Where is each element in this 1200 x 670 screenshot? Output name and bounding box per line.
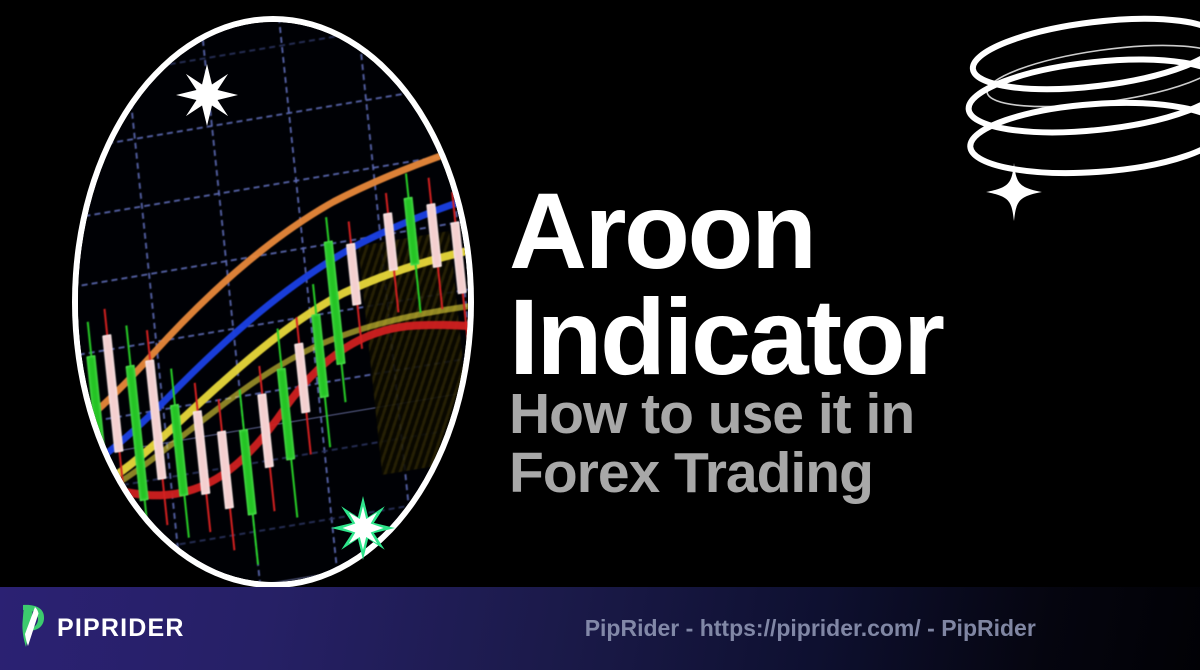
poster-canvas: Aroon Indicator How to use it in Forex T… <box>0 0 1200 670</box>
sparkle-8-point-white-icon <box>176 64 238 126</box>
subtitle-line-1: How to use it in <box>509 385 1169 444</box>
footer-bar: PIPRIDER PipRider - https://piprider.com… <box>0 587 1200 670</box>
subtitle-line-2: Forex Trading <box>509 444 1169 503</box>
candlestick-chart-photo <box>78 22 468 582</box>
brand-lockup[interactable]: PIPRIDER <box>18 603 185 654</box>
page-subtitle: How to use it in Forex Trading <box>509 385 1169 504</box>
brand-name: PIPRIDER <box>57 614 185 643</box>
price-level-line <box>78 526 468 582</box>
page-title: Aroon Indicator <box>509 178 1169 390</box>
title-line-2: Indicator <box>509 284 1169 390</box>
piprider-logo-icon <box>18 603 48 654</box>
sparkle-8-point-green-icon <box>331 496 395 560</box>
chart-artwork-ellipse <box>78 22 468 582</box>
footer-url-text[interactable]: PipRider - https://piprider.com/ - PipRi… <box>585 615 1036 642</box>
title-line-1: Aroon <box>509 178 1169 284</box>
